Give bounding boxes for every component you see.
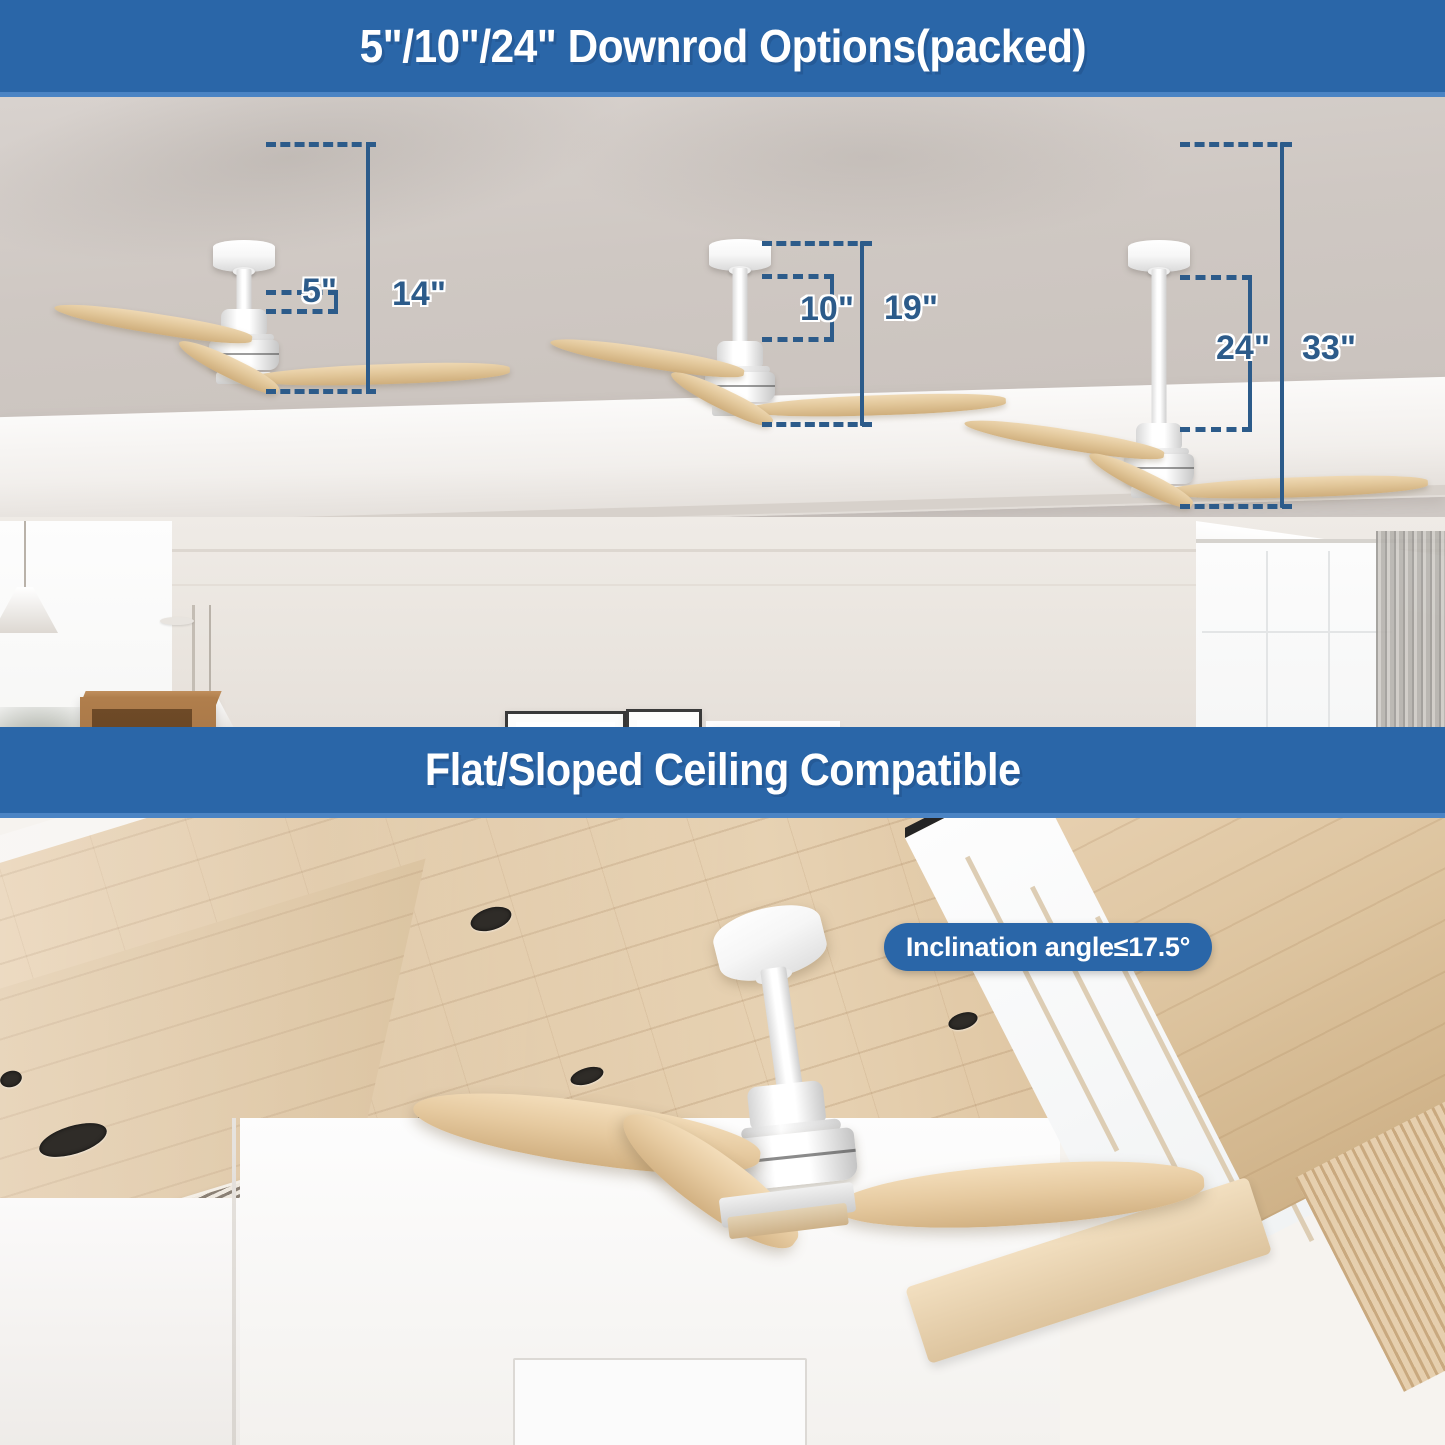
dim-label-33in: 33" (1302, 329, 1356, 368)
wall-frame-1 (505, 711, 626, 727)
downrod (760, 966, 803, 1093)
window-with-curtains (1196, 521, 1445, 727)
fan-blade (833, 1152, 1206, 1238)
dim-label-14in: 14" (392, 275, 446, 314)
ceiling-shadow-right (560, 97, 1180, 247)
dim-19in-line (860, 241, 864, 426)
banner-downrod-title: 5"/10"/24" Downrod Options(packed) (359, 19, 1086, 73)
downrod (733, 268, 748, 345)
scene-sloped-ceiling-room: Inclination angle≤17.5° (0, 818, 1445, 1445)
dim-14in-line (366, 142, 370, 392)
dim-bottom-dash-3 (1180, 504, 1292, 509)
banner-ceiling-title: Flat/Sloped Ceiling Compatible (425, 744, 1021, 796)
pendant-cord (209, 605, 211, 701)
ceiling-canopy (1128, 240, 1190, 272)
dim-label-19in: 19" (884, 289, 938, 328)
ceiling-canopy (213, 240, 275, 272)
window-mullion (1328, 551, 1330, 727)
downrod (1152, 269, 1167, 427)
pendant-shade (0, 587, 58, 633)
inclination-angle-badge: Inclination angle≤17.5° (884, 923, 1212, 971)
sheer-curtain (1196, 543, 1396, 727)
dim-label-10in: 10" (800, 290, 854, 329)
wall-recess-panel (513, 1358, 807, 1445)
dim-label-24in: 24" (1216, 329, 1270, 368)
dim-top-dash-1 (266, 142, 376, 147)
dim-10in-top-dash (762, 274, 834, 279)
banner-top-underline (0, 92, 1445, 97)
window-rail (1202, 631, 1392, 633)
dim-label-5in: 5" (302, 272, 337, 311)
product-feature-image: 5"/10"/24" Downrod Options(packed) (0, 0, 1445, 1445)
wall-corner-edge (232, 1118, 236, 1445)
pendant-cord (24, 521, 26, 591)
shelf-interior (92, 709, 192, 727)
dim-top-dash-2 (762, 241, 872, 246)
banner-mid-underline (0, 813, 1445, 818)
window-mullion (1266, 551, 1268, 727)
dim-bottom-dash-2 (762, 422, 872, 427)
dim-33in-line (1280, 142, 1284, 508)
scene-flat-ceiling-room: 5" 14" 10" 19" (0, 97, 1445, 727)
dim-24in-top-dash (1180, 275, 1252, 280)
banner-downrod-options: 5"/10"/24" Downrod Options(packed) (0, 0, 1445, 92)
dim-top-dash-3 (1180, 142, 1292, 147)
drape-curtain (1376, 531, 1445, 727)
frame-mat (637, 720, 691, 727)
downrod (237, 269, 252, 313)
dim-bottom-dash-1 (266, 389, 376, 394)
banner-ceiling-compatibility: Flat/Sloped Ceiling Compatible (0, 727, 1445, 813)
inclination-angle-label: Inclination angle≤17.5° (906, 932, 1190, 963)
dim-10in-bottom-dash (762, 337, 834, 342)
wall-frame-2 (626, 709, 702, 727)
dim-24in-bottom-dash (1180, 427, 1252, 432)
pendant-lamp-1 (0, 521, 60, 651)
